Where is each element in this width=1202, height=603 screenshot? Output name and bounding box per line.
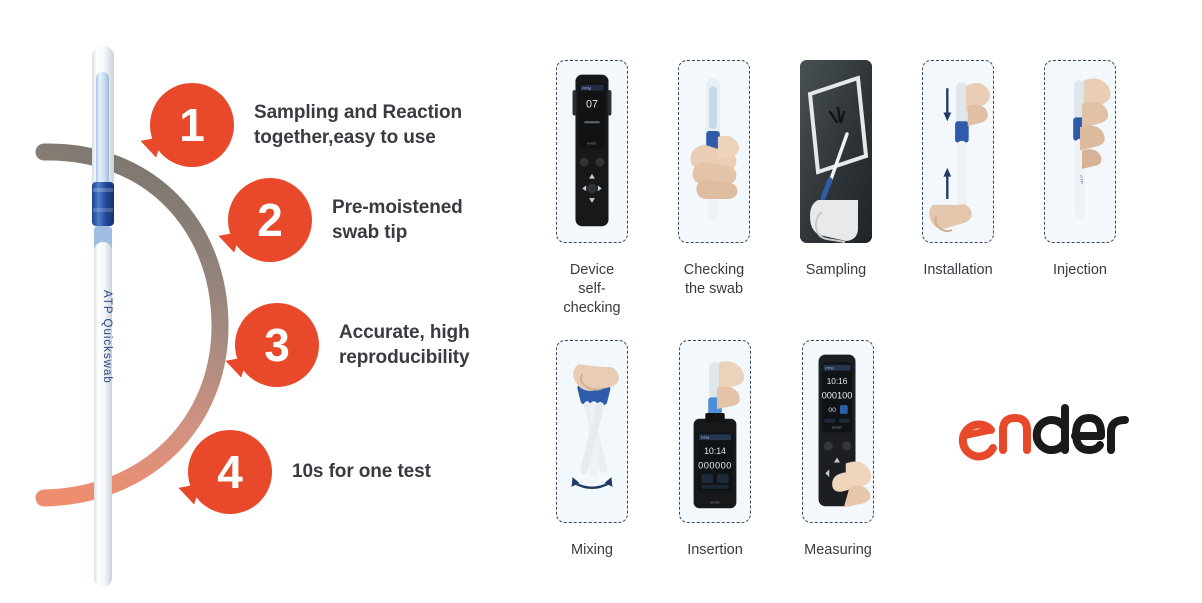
device-screen-value: 000000 (698, 460, 732, 470)
svg-text:PPM: PPM (582, 86, 591, 91)
step-caption: Device self-checking (556, 261, 628, 318)
steps-row-top: PPM 07 ender Device self-checking (556, 60, 1166, 318)
step-caption: Checking the swab (678, 261, 750, 299)
step-photo-frame (800, 60, 872, 243)
step-photo-frame (556, 340, 628, 523)
feature-item-2: 2 Pre-moistened swab tip (228, 178, 463, 262)
atp-quickswab-product: ATP Quickswab (83, 42, 123, 592)
step-photo-frame: PPM 10:16 000100 00 ender (802, 340, 874, 523)
device-screen-value: 000100 (822, 390, 853, 400)
feature-number-4: 4 (217, 449, 243, 495)
workflow-steps-panel: PPM 07 ender Device self-checking (520, 0, 1202, 603)
step-caption: Sampling (800, 261, 872, 280)
feature-text-3: Accurate, high reproducibility (339, 320, 470, 370)
logo-accent-part (963, 418, 1027, 456)
feature-text-1: Sampling and Reaction together,easy to u… (254, 100, 462, 150)
gloved-hand-swab-icon (679, 61, 749, 239)
step-card-device-self-checking: PPM 07 ender Device self-checking (556, 60, 628, 318)
step-photo-frame: PPM 10:14 000000 ender (679, 340, 751, 523)
svg-text:07: 07 (586, 99, 598, 111)
svg-text:00: 00 (828, 407, 836, 414)
swirl-swabs-icon (557, 341, 627, 519)
step-card-sampling: Sampling (800, 60, 872, 318)
step-caption: Injection (1044, 261, 1116, 280)
logo-rest-part (1037, 408, 1125, 450)
svg-text:PPM: PPM (825, 365, 833, 370)
feature-bubble-4: 4 (188, 430, 272, 514)
step-photo-frame (678, 60, 750, 243)
feature-number-3: 3 (264, 322, 290, 368)
feature-text-4: 10s for one test (292, 459, 431, 484)
step-card-mixing: Mixing (556, 340, 628, 560)
feature-item-3: 3 Accurate, high reproducibility (235, 303, 470, 387)
feature-text-2: Pre-moistened swab tip (332, 195, 463, 245)
svg-text:ATP: ATP (1078, 175, 1084, 184)
swab-label-text: ATP Quickswab (101, 290, 113, 384)
steps-row-bottom: Mixing PPM 10:14 000000 (556, 340, 925, 560)
step-card-checking-the-swab: Checking the swab (678, 60, 750, 318)
step-caption: Mixing (556, 541, 628, 560)
svg-text:PPM: PPM (701, 435, 709, 440)
features-panel: ATP Quickswab 1 Sampling and Reaction to… (0, 0, 520, 603)
swab-template-surface-icon (800, 60, 872, 243)
device-screen-time: 10:16 (827, 377, 848, 386)
svg-text:ender: ender (710, 499, 721, 504)
step-card-installation: Installation (922, 60, 994, 318)
swab-into-device-icon: PPM 10:14 000000 ender (680, 341, 750, 519)
feature-bubble-1: 1 (150, 83, 234, 167)
step-photo-frame: PPM 07 ender (556, 60, 628, 243)
feature-item-1: 1 Sampling and Reaction together,easy to… (150, 83, 462, 167)
feature-number-2: 2 (257, 197, 283, 243)
step-card-injection: ATP Injection (1044, 60, 1116, 318)
step-card-measuring: PPM 10:16 000100 00 ender Me (802, 340, 874, 560)
svg-text:ender: ender (832, 424, 843, 429)
step-caption: Insertion (679, 541, 751, 560)
device-in-hand-icon: PPM 10:16 000100 00 ender (803, 341, 873, 519)
device-screen-time: 10:14 (704, 446, 726, 456)
ender-brand-logo: en der (955, 398, 1135, 460)
feature-number-1: 1 (179, 102, 205, 148)
step-caption: Installation (922, 261, 994, 280)
two-hands-swab-icon: ATP (1045, 61, 1115, 239)
step-card-insertion: PPM 10:14 000000 ender Insertion (679, 340, 751, 560)
step-photo-frame (922, 60, 994, 243)
feature-item-4: 4 10s for one test (188, 430, 431, 514)
step-caption: Measuring (802, 541, 874, 560)
swab-press-arrows-icon (923, 61, 993, 239)
feature-bubble-2: 2 (228, 178, 312, 262)
feature-bubble-3: 3 (235, 303, 319, 387)
step-photo-frame: ATP (1044, 60, 1116, 243)
handheld-device-icon: PPM 07 ender (557, 61, 627, 239)
svg-text:ender: ender (587, 142, 597, 146)
